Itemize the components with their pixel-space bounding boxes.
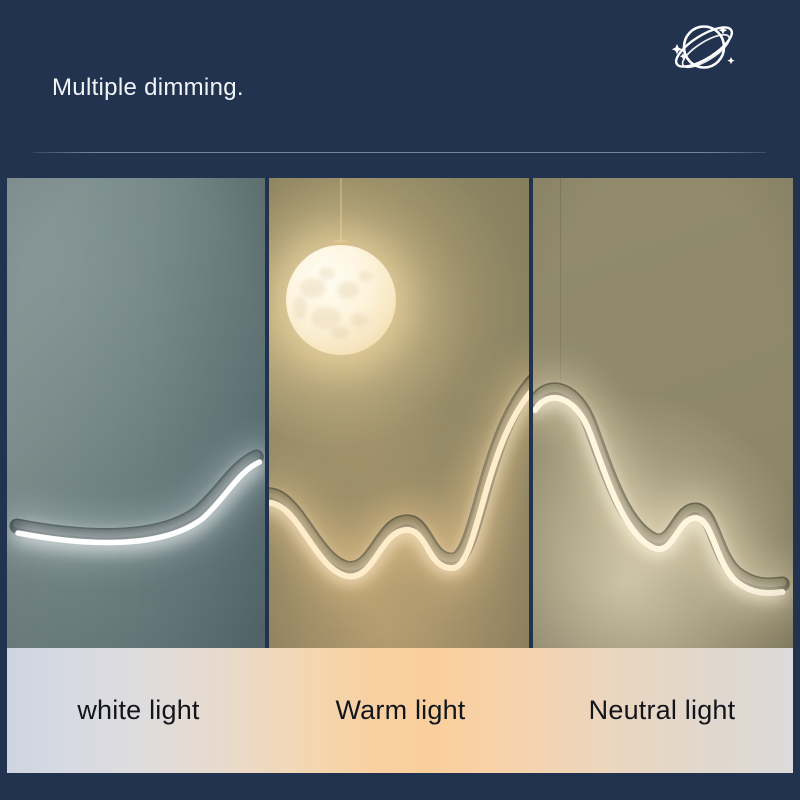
- banner-header: Multiple dimming.: [0, 0, 800, 178]
- product-photo-gallery: [7, 178, 793, 648]
- caption-white-light: white light: [7, 648, 270, 773]
- wavy-led-strip-icon: [269, 178, 528, 648]
- planet-saturn-icon: [660, 14, 746, 82]
- wavy-led-strip-icon: [7, 178, 265, 648]
- panel-neutral-light[interactable]: [533, 178, 793, 648]
- color-temperature-legend: white light Warm light Neutral light: [7, 648, 793, 773]
- panel-white-light[interactable]: [7, 178, 265, 648]
- page-title: Multiple dimming.: [52, 74, 244, 102]
- product-banner: Multiple dimming.: [0, 0, 800, 800]
- panel-warm-light[interactable]: [269, 178, 528, 648]
- caption-neutral-light: Neutral light: [531, 648, 793, 773]
- header-divider: [33, 152, 766, 153]
- caption-warm-light: Warm light: [270, 648, 531, 773]
- wavy-led-strip-icon: [533, 178, 793, 648]
